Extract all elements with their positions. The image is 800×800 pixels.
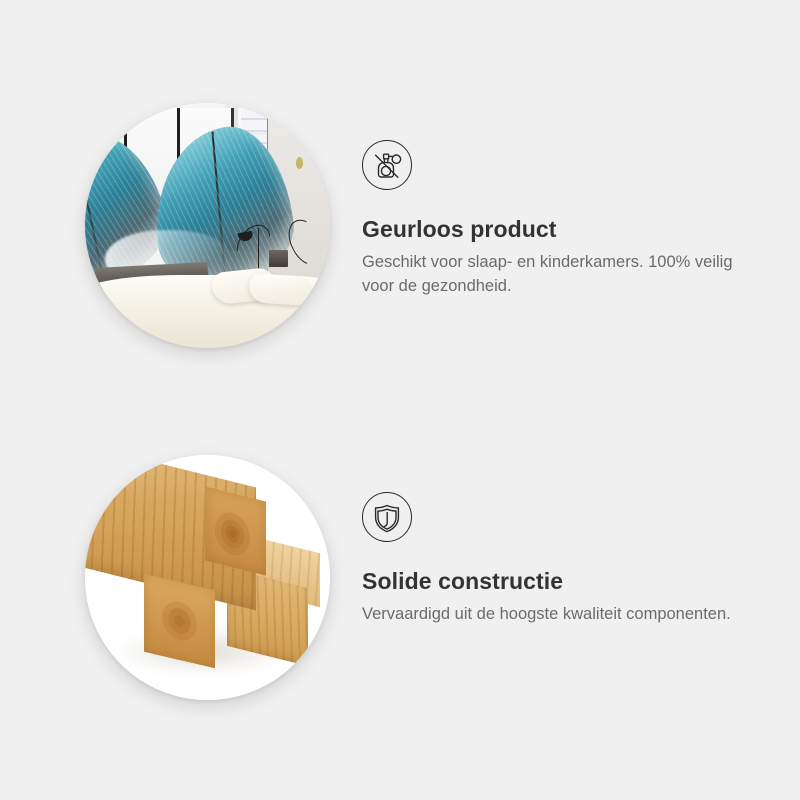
- feature-section-solide-constructie: Solide constructie Vervaardigd uit de ho…: [0, 437, 800, 797]
- feature-text-geurloos-product: Geurloos product Geschikt voor slaap- en…: [362, 140, 762, 298]
- no-fragrance-icon: [362, 140, 412, 190]
- feature-text-solide-constructie: Solide constructie Vervaardigd uit de ho…: [362, 492, 762, 627]
- beam-top-end-face: [205, 487, 266, 576]
- feature-title: Geurloos product: [362, 216, 762, 242]
- wall-decoration: [296, 157, 303, 169]
- beam-lower-left-face: [144, 574, 215, 669]
- bedroom-feather-artwork-photo: [85, 103, 330, 348]
- shield-icon: [362, 492, 412, 542]
- bedroom-scene: [85, 103, 330, 348]
- feature-page: Geurloos product Geschikt voor slaap- en…: [0, 0, 800, 800]
- wood-scene: [85, 455, 330, 700]
- feature-title: Solide constructie: [362, 568, 762, 594]
- wooden-beams-photo: [85, 455, 330, 700]
- nightstand: [269, 250, 289, 267]
- feature-description: Geschikt voor slaap- en kinderkamers. 10…: [362, 251, 747, 298]
- feature-description: Vervaardigd uit de hoogste kwaliteit com…: [362, 603, 747, 626]
- pillow-right: [248, 272, 311, 306]
- feature-section-geurloos-product: Geurloos product Geschikt voor slaap- en…: [0, 85, 800, 445]
